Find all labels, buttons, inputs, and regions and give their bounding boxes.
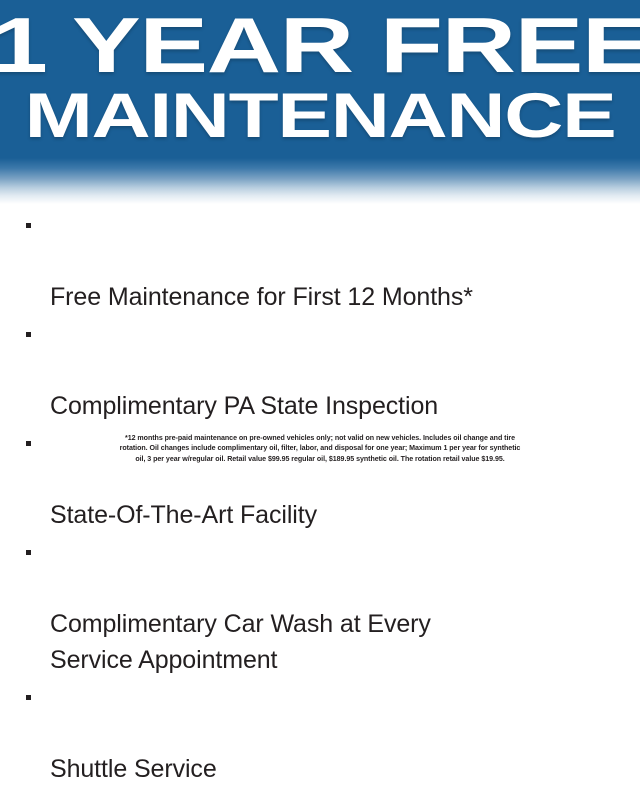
list-item: Complimentary Car Wash at Every Service …: [0, 534, 640, 678]
benefit-text: Complimentary Car Wash at Every Service …: [50, 610, 431, 674]
benefit-text: State-Of-The-Art Facility: [50, 501, 317, 529]
list-item: Shuttle Service: [0, 679, 640, 787]
disclaimer-fine-print: *12 months pre-paid maintenance on pre-o…: [0, 433, 640, 464]
promo-banner: 1 YEAR FREE MAINTENANCE: [0, 0, 640, 168]
banner-gradient-fade: [0, 158, 640, 204]
square-bullet-icon: [26, 550, 31, 555]
headline-line-1: 1 YEAR FREE: [0, 8, 640, 84]
disclaimer-line-2: rotation. Oil changes include compliment…: [0, 443, 640, 453]
list-item: Complimentary PA State Inspection: [0, 316, 640, 424]
disclaimer-line-3: oil, 3 per year w/regular oil. Retail va…: [0, 454, 640, 464]
square-bullet-icon: [26, 695, 31, 700]
list-item: Free Maintenance for First 12 Months*: [0, 207, 640, 315]
headline-line-2: MAINTENANCE: [0, 86, 640, 147]
disclaimer-line-1: *12 months pre-paid maintenance on pre-o…: [0, 433, 640, 443]
benefit-text: Free Maintenance for First 12 Months*: [50, 283, 473, 311]
square-bullet-icon: [26, 332, 31, 337]
benefit-text: Shuttle Service: [50, 755, 217, 783]
banner-headline-group: 1 YEAR FREE MAINTENANCE: [0, 8, 640, 147]
benefit-text: Complimentary PA State Inspection: [50, 392, 438, 420]
square-bullet-icon: [26, 223, 31, 228]
benefits-list: Free Maintenance for First 12 Months* Co…: [0, 207, 640, 788]
